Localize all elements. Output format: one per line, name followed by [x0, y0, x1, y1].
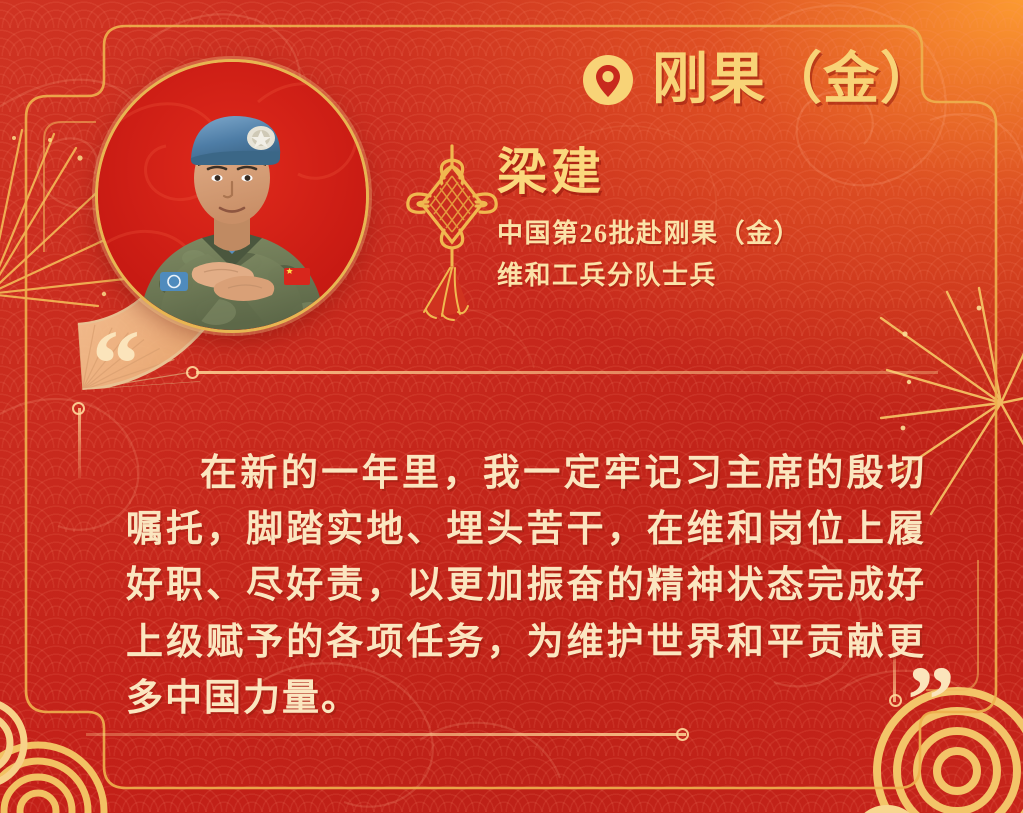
peacekeeper-photo — [98, 62, 366, 330]
person-identity: 梁建 中国第26批赴刚果（金） 维和工兵分队士兵 — [497, 146, 801, 297]
location-pin-icon — [582, 54, 634, 106]
person-title-line-2: 维和工兵分队士兵 — [497, 255, 801, 297]
concentric-circles-ornament — [0, 671, 142, 813]
bottom-divider-line — [86, 733, 686, 736]
bottom-divider-dot — [676, 728, 689, 741]
top-divider-line — [196, 371, 938, 374]
chinese-knot-icon — [398, 140, 506, 322]
quote-block: 在新的一年里，我一定牢记习主席的殷切嘱托，脚踏实地、埋头苦干，在维和岗位上履好职… — [126, 446, 926, 727]
quote-text: 在新的一年里，我一定牢记习主席的殷切嘱托，脚踏实地、埋头苦干，在维和岗位上履好职… — [126, 446, 926, 727]
portrait-block — [98, 62, 366, 330]
person-title-line-1: 中国第26批赴刚果（金） — [497, 213, 801, 255]
location-header: 刚果（金） — [582, 52, 937, 108]
top-divider-dot — [186, 366, 199, 379]
opening-quote-mark: “ — [92, 316, 140, 412]
left-vertical-dot — [72, 402, 85, 415]
left-vertical-line — [78, 408, 81, 478]
location-label: 刚果（金） — [652, 52, 937, 108]
person-name: 梁建 — [497, 146, 801, 199]
greeting-card: 刚果（金） — [0, 0, 1023, 813]
